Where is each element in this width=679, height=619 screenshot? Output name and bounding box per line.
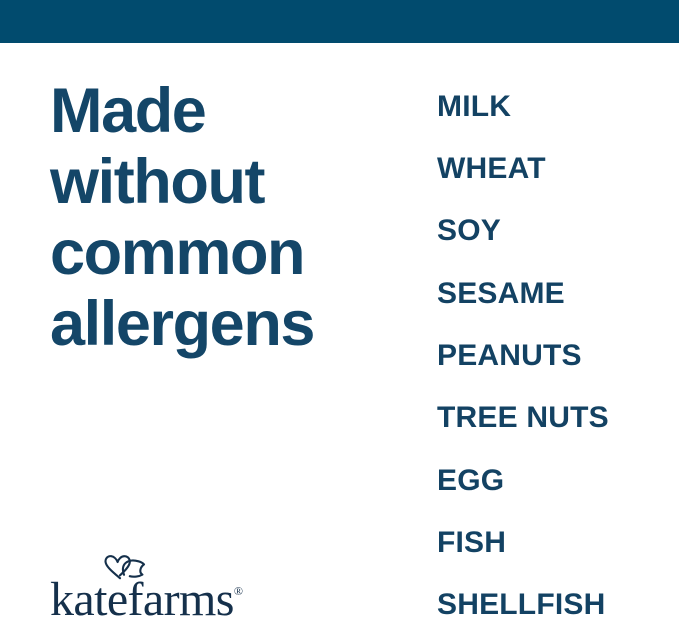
list-item: WHEAT xyxy=(437,154,546,184)
headline-line-2: without xyxy=(50,147,405,218)
list-item: SHELLFISH xyxy=(437,590,605,619)
brand-logo: katefarms® xyxy=(50,554,280,616)
brand-wordmark: katefarms® xyxy=(50,567,243,619)
list-item: SOY xyxy=(437,216,501,246)
list-item: PEANUTS xyxy=(437,341,582,371)
allergen-info-graphic: Made without common allergens katefarms®… xyxy=(0,0,679,619)
headline-line-4: allergens xyxy=(50,289,405,360)
content-area: Made without common allergens katefarms®… xyxy=(0,43,679,619)
allergen-list: MILK WHEAT SOY SESAME PEANUTS TREE NUTS … xyxy=(437,43,679,619)
list-item: MILK xyxy=(437,92,511,122)
list-item: EGG xyxy=(437,466,504,496)
headline-line-3: common xyxy=(50,218,405,289)
list-item: TREE NUTS xyxy=(437,403,609,433)
headline-line-1: Made xyxy=(50,76,405,147)
list-item: FISH xyxy=(437,528,506,558)
brand-wordmark-text: katefarms xyxy=(50,573,234,619)
page-title: Made without common allergens xyxy=(50,76,405,360)
list-item: SESAME xyxy=(437,279,565,309)
registered-trademark-symbol: ® xyxy=(234,584,243,598)
left-column: Made without common allergens katefarms® xyxy=(50,43,405,619)
top-color-band xyxy=(0,0,679,43)
